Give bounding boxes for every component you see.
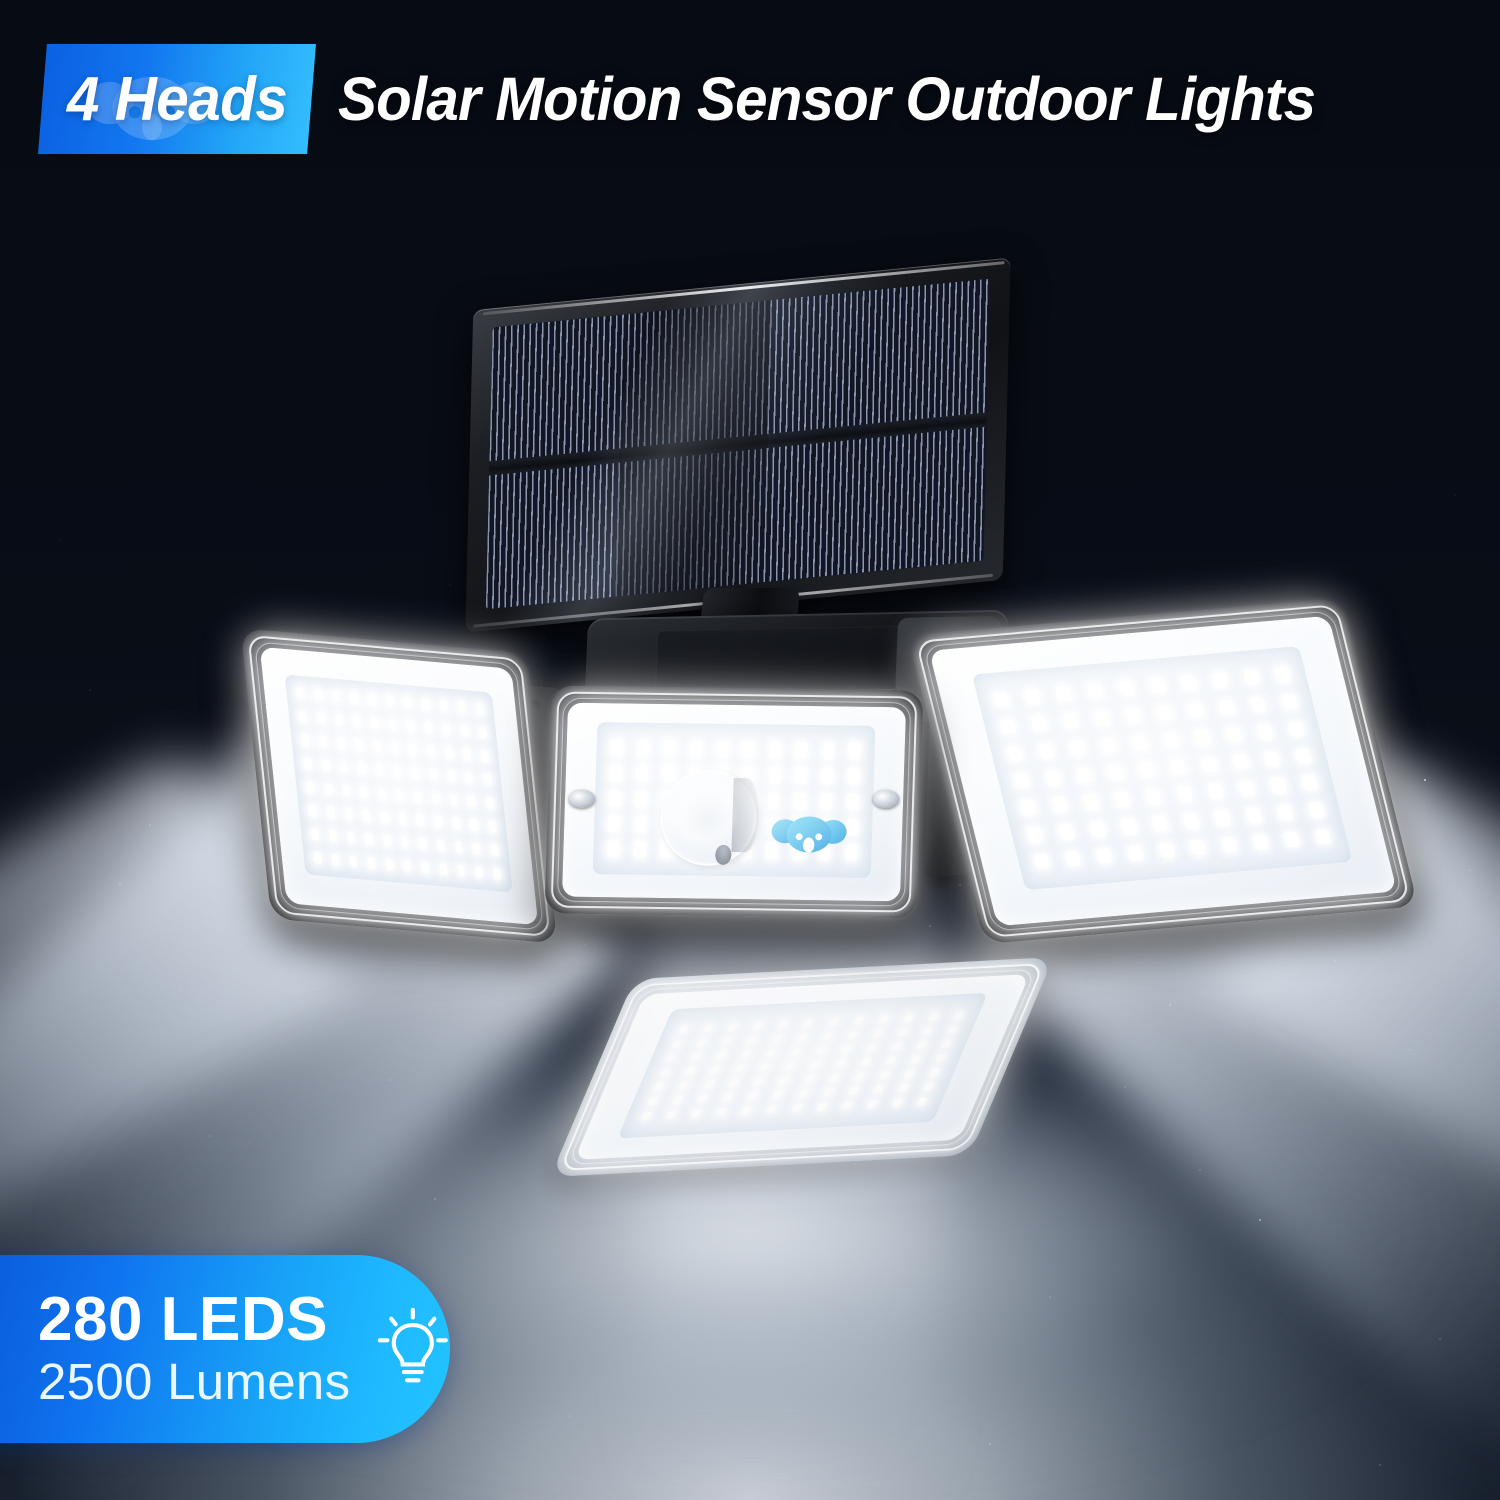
led-chip — [823, 1088, 834, 1096]
led-chip — [898, 1084, 909, 1092]
led-chip — [1256, 724, 1273, 740]
led-chip — [403, 860, 411, 872]
led-chip — [493, 868, 501, 880]
led-chip — [470, 819, 478, 831]
led-chip — [772, 1091, 783, 1099]
led-chip — [439, 863, 447, 875]
led-chip — [342, 785, 350, 797]
led-chip — [1096, 848, 1113, 864]
led-chip — [821, 768, 833, 785]
led-chip — [794, 792, 806, 809]
led-chip — [691, 1109, 702, 1117]
led-chip — [841, 1045, 852, 1053]
led-chip — [768, 792, 780, 809]
led-chip — [409, 744, 417, 756]
led-chip — [1212, 672, 1229, 688]
led-chip — [383, 835, 391, 847]
led-chip — [365, 833, 373, 845]
led-chip — [434, 816, 442, 828]
led-chip — [885, 1057, 896, 1065]
led-chip — [1107, 764, 1124, 780]
led-chip — [1156, 705, 1173, 721]
led-chip — [853, 1016, 864, 1024]
led-chip — [1125, 708, 1142, 724]
led-chip — [993, 691, 1010, 707]
led-chip — [1218, 699, 1235, 715]
led-chip — [1252, 835, 1269, 851]
led-chip — [847, 793, 859, 810]
led-chip — [721, 1037, 732, 1045]
led-chip — [666, 1110, 677, 1118]
led-chip — [1180, 675, 1197, 691]
led-chip — [452, 818, 460, 830]
led-chip — [340, 761, 348, 773]
led-chip — [447, 770, 455, 782]
led-chip — [427, 745, 435, 757]
led-chip — [928, 1012, 939, 1020]
led-chip — [866, 1044, 877, 1052]
solar-cell-array — [486, 279, 991, 610]
led-chip — [634, 841, 646, 858]
led-chip — [1288, 721, 1305, 737]
led-chip — [1149, 678, 1166, 694]
led-chip — [753, 1078, 764, 1086]
led-chip — [828, 1018, 839, 1026]
led-chip — [867, 1100, 878, 1108]
lightbulb-icon — [376, 1283, 450, 1409]
led-chip — [458, 701, 466, 713]
led-chip — [935, 1054, 946, 1062]
led-chip — [1315, 829, 1332, 845]
led-chip — [637, 740, 649, 757]
led-chip — [419, 838, 427, 850]
led-chip — [335, 714, 343, 726]
led-chip — [796, 742, 808, 759]
led-chip — [1044, 770, 1061, 786]
led-chip — [1006, 746, 1023, 762]
led-chip — [897, 1028, 908, 1036]
led-chip — [768, 767, 780, 784]
led-chip — [804, 1075, 815, 1083]
led-array-left — [285, 674, 512, 892]
led-chip — [903, 1014, 914, 1022]
led-chip — [835, 1059, 846, 1067]
led-chip — [1100, 737, 1117, 753]
led-chip — [309, 805, 317, 817]
led-chip — [690, 740, 702, 757]
led-chip — [765, 1049, 776, 1057]
led-chip — [1087, 683, 1104, 699]
led-chip — [299, 711, 307, 723]
led-chip — [350, 855, 358, 867]
led-chip — [1176, 786, 1193, 802]
led-chip — [1308, 802, 1325, 818]
led-chip — [845, 844, 857, 861]
led-chip — [842, 1101, 853, 1109]
led-chip — [404, 697, 412, 709]
led-chip — [1250, 697, 1267, 713]
led-chip — [481, 750, 489, 762]
led-chip — [1183, 813, 1200, 829]
led-spec-text-block: 280 LEDS 2500 Lumens — [38, 1288, 350, 1410]
led-chip — [483, 774, 491, 786]
led-chip — [304, 758, 312, 770]
led-chip — [401, 836, 409, 848]
led-chip — [302, 734, 310, 746]
led-chip — [391, 742, 399, 754]
led-chip — [821, 793, 833, 810]
led-chip — [860, 1058, 871, 1066]
led-chip — [665, 1054, 676, 1062]
led-chip — [1158, 843, 1175, 859]
led-chip — [829, 1074, 840, 1082]
led-head-left-lens — [260, 647, 539, 926]
led-chip — [941, 1040, 952, 1048]
led-chip — [371, 717, 379, 729]
led-chip — [332, 690, 340, 702]
led-chip — [1201, 756, 1218, 772]
led-chip — [684, 1067, 695, 1075]
led-chip — [322, 760, 330, 772]
led-chip — [953, 1011, 964, 1019]
led-head-bottom — [550, 957, 1053, 1177]
led-chip — [1214, 810, 1231, 826]
led-head-bottom-lens — [574, 974, 1030, 1160]
led-chip — [791, 1048, 802, 1056]
led-chip — [664, 740, 676, 757]
headline-bar: 4 Heads Solar Motion Sensor Outdoor Ligh… — [0, 40, 1500, 158]
led-chip — [1243, 670, 1260, 686]
led-chip — [1020, 800, 1037, 816]
led-chip — [368, 857, 376, 869]
led-head-left — [241, 628, 558, 943]
led-chip — [759, 1063, 770, 1071]
led-chip — [1190, 840, 1207, 856]
led-chip — [445, 747, 453, 759]
led-chip — [741, 1106, 752, 1114]
led-chip — [641, 1111, 652, 1119]
led-chip — [1277, 805, 1294, 821]
led-chip — [478, 727, 486, 739]
led-chip — [1294, 748, 1311, 764]
led-chip — [722, 1093, 733, 1101]
led-chip — [916, 1041, 927, 1049]
led-chip — [663, 765, 675, 782]
led-chip — [696, 1039, 707, 1047]
led-chip — [306, 781, 314, 793]
led-chip — [473, 843, 481, 855]
led-chip — [697, 1094, 708, 1102]
led-chip — [816, 1046, 827, 1054]
led-chip — [465, 772, 473, 784]
led-chip — [389, 719, 397, 731]
led-chip — [1127, 846, 1144, 862]
led-chip — [734, 1065, 745, 1073]
led-chip — [727, 1023, 738, 1031]
led-chip — [468, 796, 476, 808]
led-chip — [849, 743, 861, 760]
lens-screw-right — [873, 790, 900, 808]
led-chip — [324, 783, 332, 795]
led-chip — [795, 767, 807, 784]
led-chip — [1239, 781, 1256, 797]
led-chip — [337, 738, 345, 750]
led-chip — [778, 1020, 789, 1028]
led-chip — [396, 789, 404, 801]
led-chip — [421, 861, 429, 873]
led-chip — [810, 1061, 821, 1069]
led-chip — [317, 712, 325, 724]
led-chip — [904, 1070, 915, 1078]
led-head-right-lens — [929, 616, 1397, 927]
led-chip — [947, 1025, 958, 1033]
led-chip — [347, 832, 355, 844]
led-chip — [752, 1022, 763, 1030]
led-chip — [1207, 783, 1224, 799]
pir-motion-sensor-icon — [659, 769, 758, 866]
led-chip — [1013, 773, 1030, 789]
lumens-label: 2500 Lumens — [38, 1353, 350, 1410]
led-chip — [892, 1098, 903, 1106]
led-chip — [1120, 819, 1137, 835]
led-chip — [747, 1092, 758, 1100]
led-chip — [873, 1085, 884, 1093]
led-head-center-lens — [562, 703, 906, 902]
led-chip — [817, 1102, 828, 1110]
led-chip — [368, 694, 376, 706]
led-chip — [485, 797, 493, 809]
led-chip — [350, 692, 358, 704]
led-chip — [385, 858, 393, 870]
led-chip — [363, 810, 371, 822]
led-chip — [1194, 729, 1211, 745]
led-chip — [653, 1083, 664, 1091]
led-chip — [1027, 827, 1044, 843]
led-chip — [353, 716, 361, 728]
led-chip — [728, 1079, 739, 1087]
led-chip — [314, 689, 322, 701]
heads-count-label: 4 Heads — [67, 64, 287, 135]
led-chip — [923, 1083, 934, 1091]
led-chip — [1274, 667, 1291, 683]
led-chip — [766, 1105, 777, 1113]
led-array-right — [972, 646, 1353, 890]
led-chip — [771, 1035, 782, 1043]
led-chip — [1270, 778, 1287, 794]
led-chip — [381, 811, 389, 823]
led-chip — [394, 766, 402, 778]
led-chip — [490, 844, 498, 856]
led-chip — [327, 807, 335, 819]
led-chip — [386, 695, 394, 707]
led-chip — [463, 749, 471, 761]
led-chip — [1024, 689, 1041, 705]
led-chip — [422, 698, 430, 710]
led-chip — [610, 765, 622, 782]
led-chip — [743, 741, 755, 758]
led-chip — [1283, 832, 1300, 848]
led-chip — [677, 1026, 688, 1034]
heads-count-badge: 4 Heads — [38, 44, 316, 154]
led-chip — [872, 1029, 883, 1037]
led-chip — [475, 866, 483, 878]
led-chip — [803, 1019, 814, 1027]
led-chip — [1076, 767, 1093, 783]
led-chip — [910, 1055, 921, 1063]
led-chip — [647, 1097, 658, 1105]
led-chip — [878, 1015, 889, 1023]
led-chip — [311, 829, 319, 841]
led-chip — [636, 790, 648, 807]
led-chip — [424, 722, 432, 734]
page-title: Solar Motion Sensor Outdoor Lights — [338, 64, 1315, 134]
led-chip — [672, 1096, 683, 1104]
led-chip — [716, 1107, 727, 1115]
led-chip — [659, 1068, 670, 1076]
led-chip — [332, 854, 340, 866]
led-chip — [1163, 732, 1180, 748]
led-chip — [1082, 794, 1099, 810]
solar-panel — [465, 257, 1010, 632]
led-chip — [1152, 816, 1169, 832]
led-chip — [1187, 702, 1204, 718]
led-chip — [406, 720, 414, 732]
led-chip — [432, 792, 440, 804]
led-chip — [1221, 837, 1238, 853]
led-chip — [398, 813, 406, 825]
led-chip — [671, 1040, 682, 1048]
led-chip — [1245, 808, 1262, 824]
led-chip — [703, 1080, 714, 1088]
led-chip — [1138, 762, 1155, 778]
led-chip — [929, 1068, 940, 1076]
product-marketing-image: 4 Heads Solar Motion Sensor Outdoor Ligh… — [0, 0, 1500, 1500]
led-chip — [847, 1031, 858, 1039]
led-chip — [636, 765, 648, 782]
led-chip — [1114, 791, 1131, 807]
led-chip — [848, 1087, 859, 1095]
led-chip — [1031, 716, 1048, 732]
led-chip — [437, 839, 445, 851]
led-chip — [1065, 851, 1082, 867]
led-chip — [1055, 686, 1072, 702]
led-chip — [416, 814, 424, 826]
led-chip — [476, 703, 484, 715]
led-chip — [678, 1081, 689, 1089]
led-chip — [345, 808, 353, 820]
led-chip — [1301, 775, 1318, 791]
led-chip — [797, 1033, 808, 1041]
led-chip — [297, 687, 305, 699]
led-head-center — [544, 685, 923, 918]
led-chip — [846, 818, 858, 835]
led-chip — [1118, 680, 1135, 696]
led-chip — [1062, 713, 1079, 729]
led-chip — [1089, 821, 1106, 837]
led-chip — [917, 1097, 928, 1105]
led-count-label: 280 LEDS — [38, 1288, 350, 1351]
led-chip — [784, 1062, 795, 1070]
led-chip — [690, 1053, 701, 1061]
led-chip — [360, 786, 368, 798]
led-chip — [460, 725, 468, 737]
led-chip — [1093, 710, 1110, 726]
led-chip — [355, 739, 363, 751]
led-head-right — [908, 598, 1419, 944]
led-chip — [1131, 735, 1148, 751]
led-chip — [702, 1024, 713, 1032]
led-chip — [488, 821, 496, 833]
led-chip — [411, 767, 419, 779]
led-chip — [429, 769, 437, 781]
led-chip — [791, 1103, 802, 1111]
led-chip — [1225, 726, 1242, 742]
led-chip — [1145, 789, 1162, 805]
led-chip — [1069, 740, 1086, 756]
led-chip — [378, 788, 386, 800]
lens-screw-left — [569, 790, 596, 808]
led-chip — [358, 763, 366, 775]
led-chip — [635, 815, 647, 832]
koala-logo-icon — [770, 815, 847, 858]
housing-back-plate — [655, 626, 900, 695]
led-chip — [1281, 694, 1298, 710]
led-chip — [797, 1089, 808, 1097]
led-chip — [442, 723, 450, 735]
led-chip — [329, 830, 337, 842]
led-chip — [769, 742, 781, 759]
led-chip — [822, 742, 834, 759]
led-chip — [879, 1071, 890, 1079]
led-chip — [611, 739, 623, 756]
led-chip — [414, 791, 422, 803]
led-chip — [1232, 753, 1249, 769]
led-chip — [1038, 743, 1055, 759]
led-chip — [848, 768, 860, 785]
led-chip — [319, 736, 327, 748]
led-chip — [457, 865, 465, 877]
led-chip — [1000, 718, 1017, 734]
led-chip — [1058, 824, 1075, 840]
led-chip — [609, 790, 621, 807]
led-chip — [455, 841, 463, 853]
led-array-bottom — [617, 992, 988, 1138]
led-chip — [854, 1072, 865, 1080]
led-chip — [1051, 797, 1068, 813]
led-chip — [440, 700, 448, 712]
led-spec-badge: 280 LEDS 2500 Lumens — [0, 1255, 450, 1443]
led-chip — [740, 1050, 751, 1058]
led-chip — [709, 1066, 720, 1074]
led-chip — [716, 741, 728, 758]
led-chip — [1169, 759, 1186, 775]
led-chip — [376, 764, 384, 776]
led-chip — [822, 1032, 833, 1040]
led-chip — [1263, 751, 1280, 767]
led-chip — [314, 852, 322, 864]
led-chip — [1033, 854, 1050, 870]
led-chip — [608, 815, 620, 832]
led-chip — [373, 741, 381, 753]
led-chip — [922, 1027, 933, 1035]
led-chip — [891, 1042, 902, 1050]
led-chip — [715, 1052, 726, 1060]
led-chip — [746, 1036, 757, 1044]
led-chip — [450, 794, 458, 806]
led-chip — [607, 840, 619, 857]
led-chip — [778, 1076, 789, 1084]
